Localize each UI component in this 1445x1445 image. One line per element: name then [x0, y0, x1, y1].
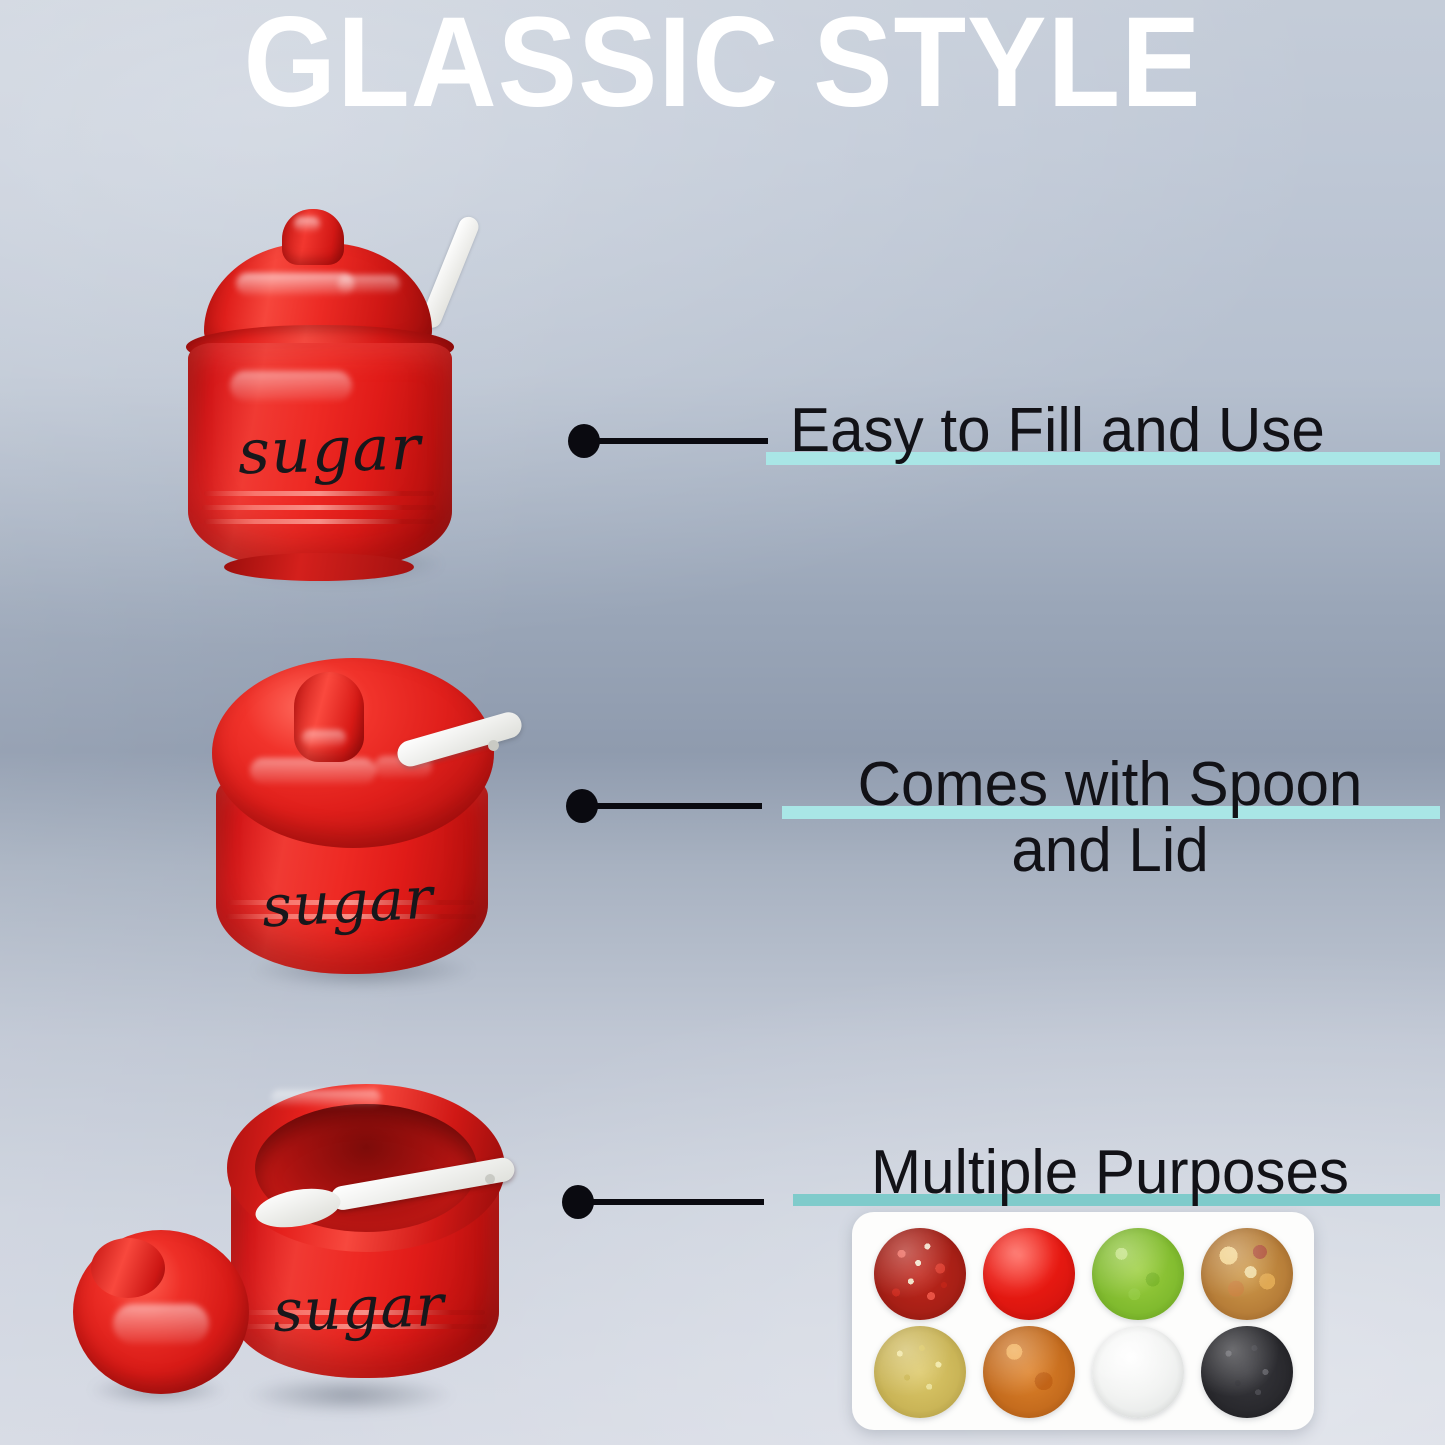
- knob-gloss: [294, 217, 320, 231]
- knob-gloss: [302, 730, 346, 746]
- spice-bowl-dried-fruit-nuts: [1201, 1228, 1293, 1320]
- spice-bowl-matcha-green-powder: [1092, 1228, 1184, 1320]
- lid-gloss: [113, 1304, 209, 1344]
- spice-bowl-chili-powder: [983, 1326, 1075, 1418]
- callout-accent-bar: [782, 806, 1440, 819]
- feature-label: Easy to Fill and Use: [790, 398, 1411, 464]
- jar-foot: [224, 553, 414, 581]
- feature-label: Multiple Purposes: [790, 1140, 1430, 1206]
- spice-bowl-black-sesame: [1201, 1326, 1293, 1418]
- spice-bowl-mustard-seeds: [874, 1326, 966, 1418]
- page-title: GLASSIC STYLE: [51, 0, 1395, 132]
- callout-marker-dot: [562, 1185, 594, 1219]
- callout-marker-dot: [566, 789, 598, 823]
- product-image-lid-on-front-view: sugar: [178, 195, 498, 595]
- callout-accent-bar: [766, 452, 1440, 465]
- lid-gloss: [236, 273, 354, 295]
- feature-label: Comes with Spoon and Lid: [790, 752, 1430, 883]
- rim-gloss: [271, 1090, 381, 1106]
- spice-bowl-red-sauce: [983, 1228, 1075, 1320]
- product-image-lid-on-top-angle-view: sugar: [198, 652, 548, 1002]
- product-image-lid-off-open-view: sugar: [55, 1078, 525, 1438]
- body-gloss: [230, 371, 352, 401]
- spice-bowl-chopped-chili: [874, 1228, 966, 1320]
- callout-leader-line: [596, 438, 768, 444]
- sugar-label: sugar: [260, 864, 435, 941]
- sugar-label: sugar: [272, 1271, 446, 1345]
- spice-bowl-white-salt: [1092, 1326, 1184, 1418]
- callout-leader-line: [590, 1199, 764, 1205]
- callout-marker-dot: [568, 424, 600, 458]
- callout-leader-line: [594, 803, 762, 809]
- jar-rib: [202, 505, 436, 510]
- product-feature-image: GLASSIC STYLE sugar sugar: [0, 0, 1445, 1445]
- multiple-purposes-spice-tray: [852, 1212, 1314, 1430]
- sugar-label: sugar: [237, 411, 422, 489]
- jar-rib: [204, 491, 434, 496]
- callout-accent-bar: [793, 1194, 1440, 1206]
- lid-knob: [91, 1238, 165, 1298]
- lid-knob: [294, 672, 364, 762]
- lid-gloss-2: [338, 275, 400, 293]
- lid-gloss: [250, 758, 376, 784]
- jar-rib: [204, 519, 434, 524]
